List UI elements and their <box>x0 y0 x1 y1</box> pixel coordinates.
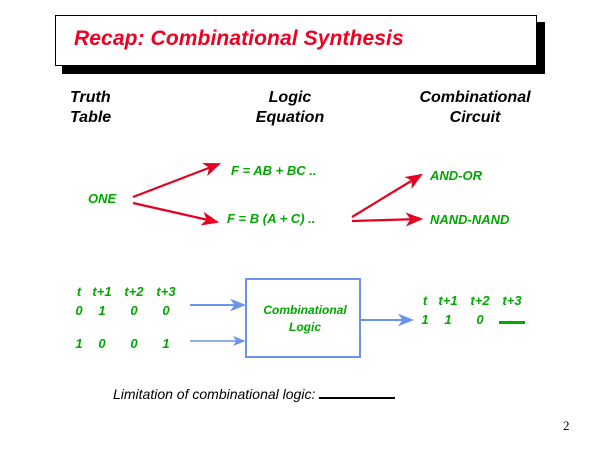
output-timing-row: 110 <box>418 312 528 327</box>
column-heading-truth-table: Truth Table <box>70 88 180 128</box>
input-header-cell: t+2 <box>118 284 150 299</box>
input-header-cell: t+1 <box>86 284 118 299</box>
output-header-cell: t <box>418 293 432 308</box>
output-header-cell: t+2 <box>464 293 496 308</box>
output-cell-blank <box>496 312 528 327</box>
page-title: Recap: Combinational Synthesis <box>74 27 404 51</box>
arrow-eq-to-nand-nand <box>352 219 421 221</box>
output-header-cell: t+1 <box>432 293 464 308</box>
label-one: ONE <box>88 191 116 206</box>
label-nand-nand: NAND-NAND <box>430 212 509 227</box>
arrow-one-to-pos <box>133 203 217 222</box>
arrow-one-to-sop <box>133 164 219 197</box>
blank-underline-green <box>499 312 525 324</box>
column-heading-combinational-circuit: Combinational Circuit <box>385 88 565 128</box>
output-timing-header: tt+1t+2t+3 <box>418 293 528 308</box>
input-cell: 1 <box>72 336 86 351</box>
slide-canvas: Recap: Combinational Synthesis Truth Tab… <box>0 0 600 450</box>
output-cell: 1 <box>418 312 432 327</box>
input-timing-row-a: 0100 <box>72 303 182 318</box>
input-timing-row-b: 1001 <box>72 336 182 351</box>
input-cell: 1 <box>150 336 182 351</box>
input-cell: 0 <box>118 303 150 318</box>
title-box: Recap: Combinational Synthesis <box>55 15 537 66</box>
limitation-text: Limitation of combinational logic: <box>113 386 315 402</box>
input-cell: 0 <box>86 336 118 351</box>
input-cell: 0 <box>150 303 182 318</box>
input-timing-header: tt+1t+2t+3 <box>72 284 182 299</box>
label-and-or: AND-OR <box>430 168 482 183</box>
equation-pos: F = B (A + C) .. <box>227 211 315 226</box>
blank-underline-black <box>319 387 395 399</box>
output-header-cell: t+3 <box>496 293 528 308</box>
arrow-eq-to-and-or <box>352 175 421 217</box>
input-cell: 1 <box>86 303 118 318</box>
equation-sop: F = AB + BC .. <box>231 163 316 178</box>
limitation-caption: Limitation of combinational logic: <box>113 386 395 402</box>
input-header-cell: t+3 <box>150 284 182 299</box>
combinational-logic-label: Combinational Logic <box>247 302 363 336</box>
combinational-logic-block: Combinational Logic <box>245 278 361 358</box>
input-cell: 0 <box>118 336 150 351</box>
output-cell: 0 <box>464 312 496 327</box>
output-cell: 1 <box>432 312 464 327</box>
column-heading-logic-equation: Logic Equation <box>215 88 365 128</box>
input-header-cell: t <box>72 284 86 299</box>
page-number: 2 <box>563 418 570 434</box>
input-cell: 0 <box>72 303 86 318</box>
